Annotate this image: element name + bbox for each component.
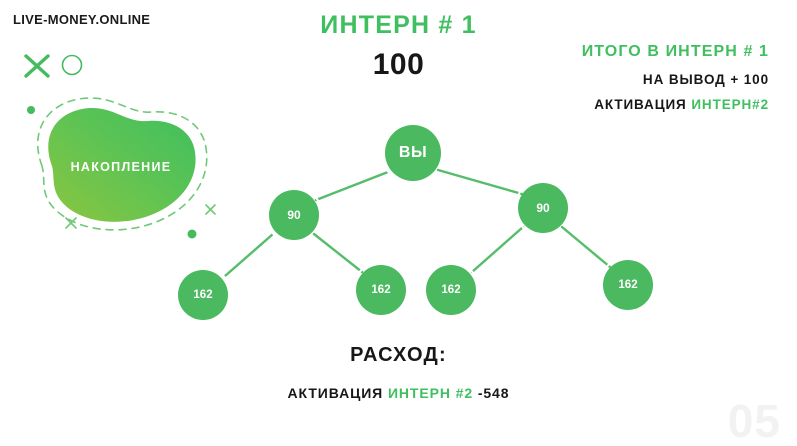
node-label: 162 bbox=[193, 289, 212, 301]
slide-canvas: LIVE-MONEY.ONLINE ИНТЕРН # 1 100 ИТОГО В… bbox=[0, 0, 797, 446]
link-left-b bbox=[314, 234, 362, 272]
node-label: 90 bbox=[536, 201, 549, 215]
link-root-left bbox=[316, 172, 388, 200]
page-number: 05 bbox=[728, 398, 781, 444]
node-label: ВЫ bbox=[399, 144, 427, 162]
link-right-a bbox=[472, 227, 523, 272]
node-leaf-1[interactable]: 162 bbox=[178, 270, 228, 320]
node-label: 162 bbox=[371, 284, 390, 296]
link-right-b bbox=[562, 227, 610, 267]
spend-label: АКТИВАЦИЯ bbox=[288, 385, 384, 401]
spend-target: ИНТЕРН #2 bbox=[388, 385, 473, 401]
link-root-right bbox=[438, 170, 522, 194]
network-tree-links bbox=[0, 0, 797, 446]
spend-title: РАСХОД: bbox=[0, 344, 797, 367]
node-label: 162 bbox=[618, 279, 637, 291]
node-leaf-4[interactable]: 162 bbox=[603, 260, 653, 310]
node-label: 90 bbox=[287, 208, 300, 222]
node-label: 162 bbox=[441, 284, 460, 296]
spend-row: АКТИВАЦИЯ ИНТЕРН #2 -548 bbox=[0, 385, 797, 401]
node-level2-right[interactable]: 90 bbox=[518, 183, 568, 233]
node-level2-left[interactable]: 90 bbox=[269, 190, 319, 240]
spend-amount: -548 bbox=[478, 385, 510, 401]
link-left-a bbox=[225, 234, 273, 276]
node-you[interactable]: ВЫ bbox=[385, 125, 441, 181]
node-leaf-2[interactable]: 162 bbox=[356, 265, 406, 315]
node-leaf-3[interactable]: 162 bbox=[426, 265, 476, 315]
